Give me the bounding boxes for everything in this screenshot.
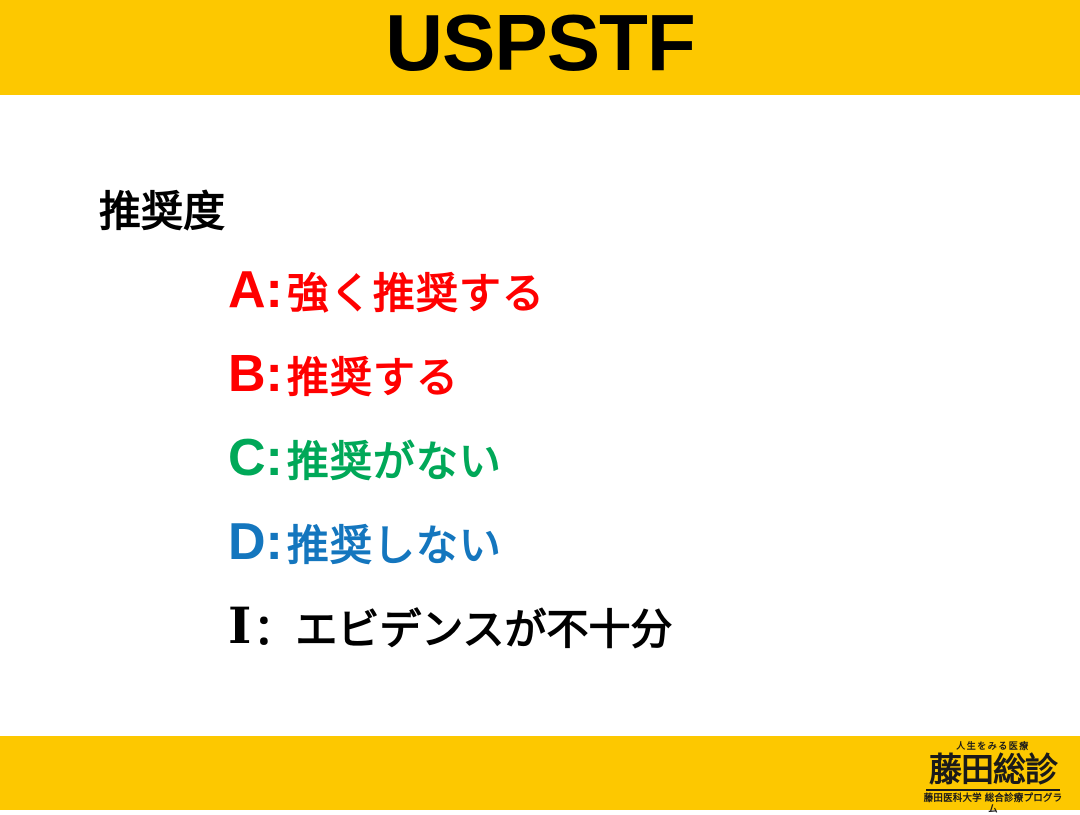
grade-text-c: 推奨がない	[283, 430, 502, 490]
page-title: USPSTF	[0, 0, 1080, 95]
grade-text-d: 推奨しない	[283, 514, 502, 574]
list-item: D: 推奨しない	[228, 514, 1028, 598]
list-item: B: 推奨する	[228, 346, 1028, 430]
slide-canvas: USPSTF 推奨度 A: 強く推奨する B: 推奨する C: 推奨がない D:…	[0, 0, 1080, 810]
grade-text-i: ：エビデンスが不十分	[253, 598, 672, 658]
grade-text-b: 推奨する	[283, 346, 459, 406]
footer-bar	[0, 736, 1080, 810]
grade-letter-i: Ⅰ	[228, 598, 253, 654]
list-item: C: 推奨がない	[228, 430, 1028, 514]
list-item: Ⅰ ：エビデンスが不十分	[228, 598, 1028, 682]
grade-letter-d: D:	[228, 514, 283, 570]
grade-list: A: 強く推奨する B: 推奨する C: 推奨がない D: 推奨しない Ⅰ ：エ…	[228, 262, 1028, 682]
grade-text-a: 強く推奨する	[283, 262, 545, 322]
section-heading: 推奨度	[99, 178, 225, 239]
logo-wordmark: 藤田総診	[922, 752, 1064, 788]
organization-logo: 人生をみる医療 藤田総診 藤田医科大学 総合診療プログラム	[922, 739, 1064, 807]
grade-letter-a: A:	[228, 262, 283, 318]
grade-letter-b: B:	[228, 346, 283, 402]
grade-letter-c: C:	[228, 430, 283, 486]
logo-divider	[926, 789, 1060, 791]
logo-subtitle: 藤田医科大学 総合診療プログラム	[922, 793, 1064, 815]
list-item: A: 強く推奨する	[228, 262, 1028, 346]
